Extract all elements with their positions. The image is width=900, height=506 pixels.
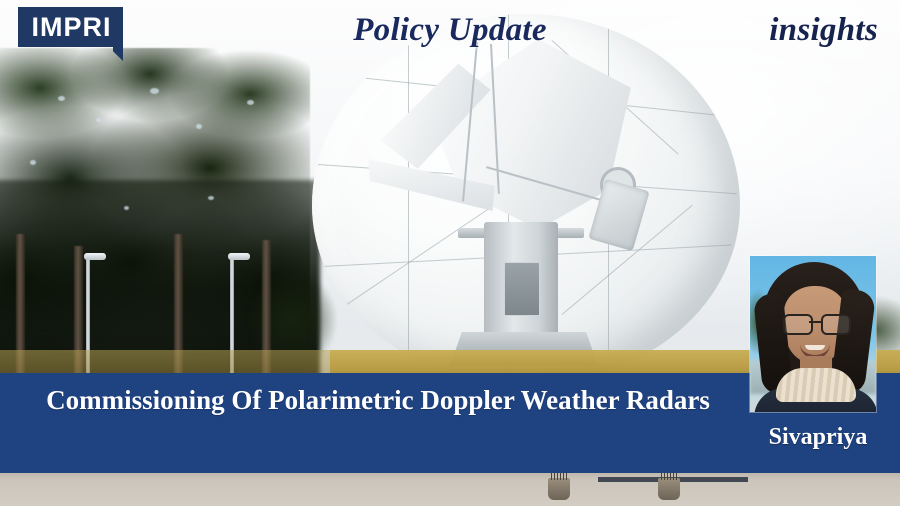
street-lamp-head bbox=[84, 253, 106, 260]
article-title: Commissioning Of Polarimetric Doppler We… bbox=[8, 385, 748, 417]
foliage-gap-speck bbox=[196, 124, 202, 129]
poster-card: IMPRI Policy Update insights Commissioni… bbox=[0, 0, 900, 506]
category-label: Policy Update bbox=[0, 12, 900, 49]
equipment-cart bbox=[548, 478, 570, 500]
photo-glasses-bridge bbox=[809, 321, 821, 323]
foliage-gap-speck bbox=[208, 196, 214, 200]
photo-glasses-lens-right bbox=[821, 314, 851, 335]
ground-pavement bbox=[0, 470, 900, 506]
foliage-gap-speck bbox=[150, 88, 159, 94]
foliage-gap-speck bbox=[124, 206, 129, 210]
photo-glasses bbox=[783, 314, 847, 331]
equipment-cart bbox=[658, 478, 680, 500]
photo-turtleneck-collar bbox=[776, 368, 856, 402]
foliage-gap-speck bbox=[30, 160, 36, 165]
foliage-gap-speck bbox=[96, 118, 101, 122]
photo-glasses-lens-left bbox=[783, 314, 813, 335]
author-name: Sivapriya bbox=[748, 424, 888, 451]
weather-radar-radome bbox=[312, 14, 740, 382]
series-label: insights bbox=[769, 12, 878, 49]
foliage-gap-speck bbox=[58, 96, 65, 101]
foliage-gap-speck bbox=[247, 100, 254, 105]
pedestal-access-panel bbox=[504, 262, 540, 316]
street-lamp-head bbox=[228, 253, 250, 260]
author-photo bbox=[750, 256, 876, 412]
